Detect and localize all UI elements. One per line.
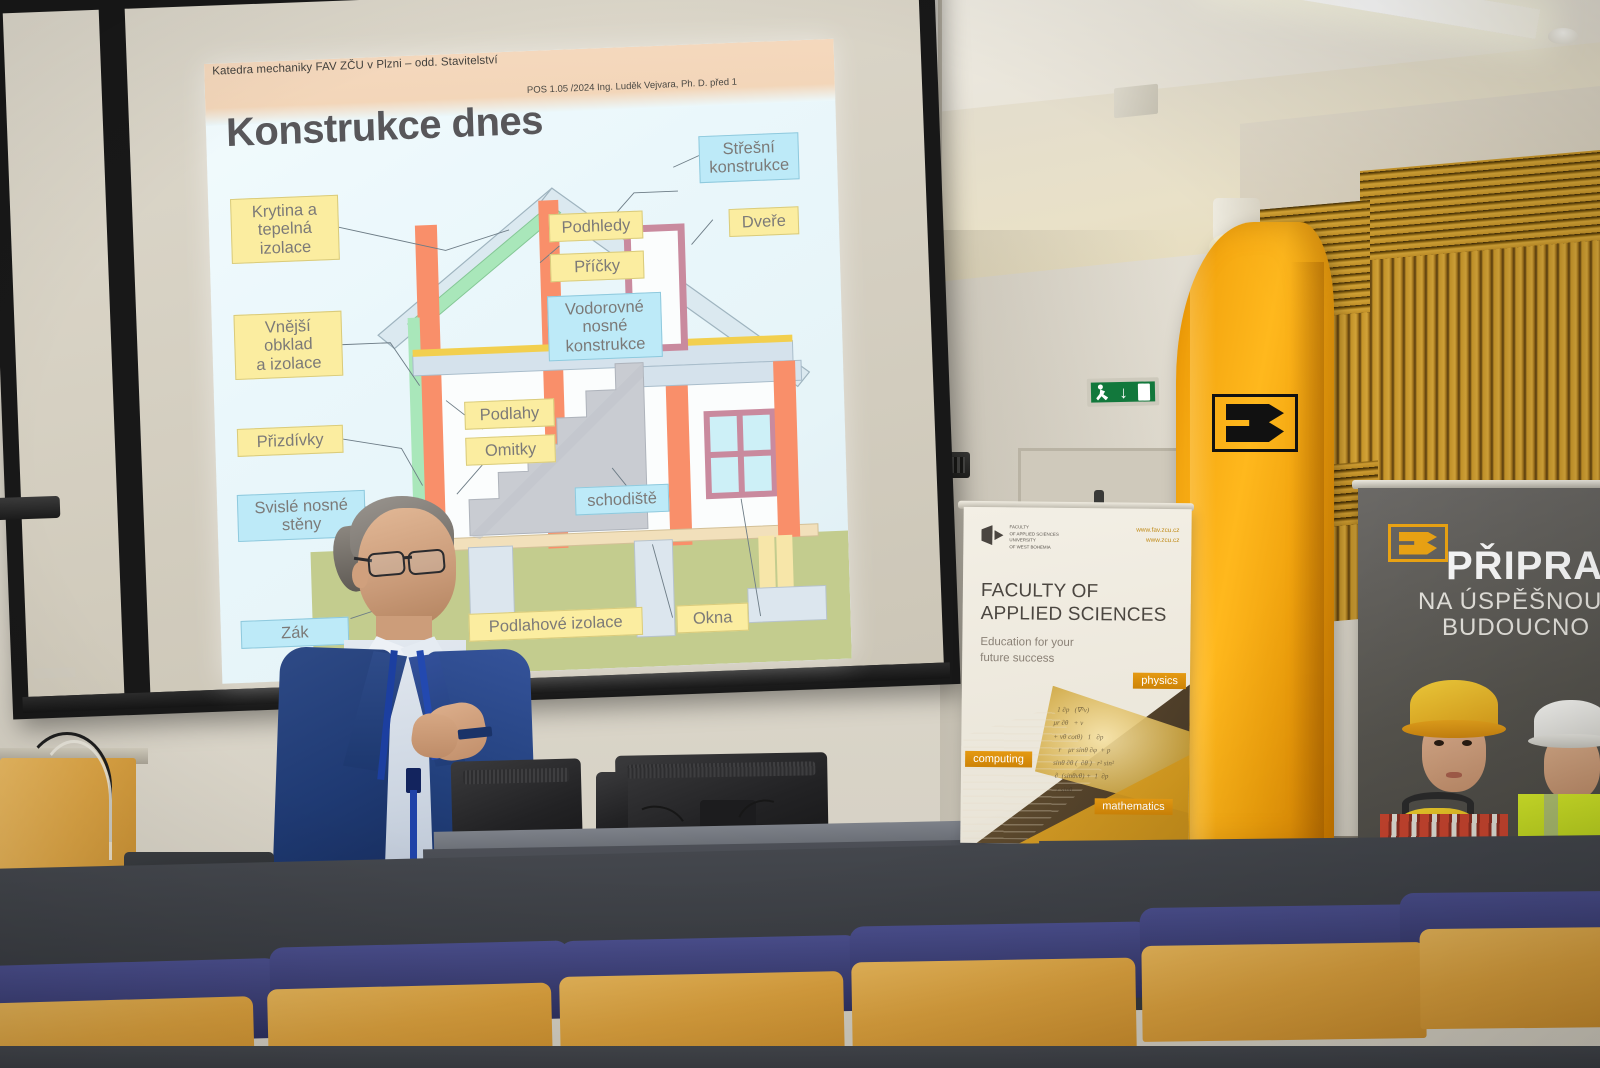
slide-label-schodiste: schodiště (575, 484, 670, 516)
smoke-detector-icon (1548, 28, 1578, 44)
fav-rollup-banner: FACULTY OF APPLIED SCIENCES UNIVERSITY O… (960, 507, 1192, 845)
fav-pill-computing: computing (965, 751, 1032, 768)
slide-label-omitky: Omitky (465, 434, 556, 466)
running-person-icon (1096, 384, 1109, 400)
berger-logo-box (1212, 394, 1298, 452)
fav-banner-urls: www.fav.zcu.cz www.zcu.cz (1136, 526, 1179, 546)
flag-fold-shadow (1290, 262, 1324, 842)
berger-rollup-banner: PŘIPRAV NA ÚSPĚŠNOU BUDOUCNO (1358, 488, 1600, 880)
slide-label-vnejsi: Vnějšíobklada izolace (233, 311, 343, 381)
berger-b-icon (1226, 404, 1284, 442)
monitor-left-vent (463, 768, 569, 785)
berger-banner-b-icon (1399, 532, 1437, 555)
fav-pill-mathematics: mathematics (1094, 798, 1173, 815)
whiteboard-panel-left (3, 10, 125, 697)
fav-banner-artwork: 1 ∂p (∇²v) μr ∂θ + v + vθ cotθ) 1 ∂p r μ… (960, 633, 1190, 845)
berger-banner-subline-2: BUDOUCNO (1442, 614, 1590, 642)
berger-feather-flag: BERGER (1176, 222, 1334, 846)
slide-label-dvere: Dveře (729, 206, 800, 237)
banner-worker2-hardhat-brim (1528, 734, 1600, 748)
monitor-right-vent (627, 761, 815, 778)
whiteboard-brand-label (33, 667, 75, 679)
lectern-cable-white (36, 740, 112, 860)
banner-worker1-eye-right (1462, 740, 1472, 746)
banner-worker1-mouth (1446, 772, 1462, 778)
banner-worker1-eye-left (1434, 740, 1444, 746)
glasses-lens-left (367, 550, 406, 577)
whiteboard-clip (0, 496, 60, 520)
fav-heading-line-2: APPLIED SCIENCES (981, 602, 1167, 627)
slide-label-podhledy: Podhledy (549, 211, 644, 243)
berger-banner-logo-box (1388, 524, 1448, 562)
fav-pill-physics: physics (1133, 673, 1186, 690)
fav-artwork-equations: 1 ∂p (∇²v) μr ∂θ + v + vθ cotθ) 1 ∂p r μ… (1048, 704, 1189, 845)
glasses-lens-right (407, 548, 446, 575)
berger-banner-subline-1: NA ÚSPĚŠNOU (1418, 588, 1600, 616)
fav-url-line-2: www.zcu.cz (1136, 536, 1179, 546)
emergency-exit-sign: ↓ (1087, 377, 1160, 407)
slide-label-prizdivky: Přizdívky (237, 425, 344, 458)
seating-row-panel-front (0, 1046, 1600, 1068)
slide-label-krytina: Krytina atepelnáizolace (230, 195, 340, 265)
berger-banner-headline: PŘIPRAV (1446, 544, 1600, 589)
fav-university-logo-icon (981, 525, 1003, 545)
fav-url-line-1: www.fav.zcu.cz (1136, 526, 1179, 536)
fav-logo-wordmark: FACULTY OF APPLIED SCIENCES UNIVERSITY O… (1009, 524, 1059, 551)
screenshot-root: ↓ Katedra mechaniky FAV ZČU v Plzni – od… (0, 0, 1600, 1068)
slide-label-okna: Okna (676, 603, 749, 634)
seat-back-6[interactable] (1419, 927, 1600, 1029)
presenter-ear (352, 562, 368, 588)
exit-door-icon (1138, 383, 1150, 400)
slide-label-stresni: Střešníkonstrukce (698, 132, 799, 183)
slide-label-vodorovne: Vodorovnénosnékonstrukce (547, 292, 663, 362)
seat-back-5[interactable] (1141, 942, 1426, 1042)
seat-back-4[interactable] (851, 958, 1137, 1057)
banner-worker1-hardhat-brim (1402, 720, 1506, 738)
ceiling-junction-box (1114, 84, 1158, 119)
fav-heading-line-1: FACULTY OF (981, 579, 1167, 604)
fav-banner-heading: FACULTY OF APPLIED SCIENCES (981, 579, 1167, 627)
slide-label-pricky: Příčky (550, 251, 645, 283)
slide-label-podlahy: Podlahy (464, 398, 555, 430)
down-arrow-icon: ↓ (1119, 383, 1128, 400)
